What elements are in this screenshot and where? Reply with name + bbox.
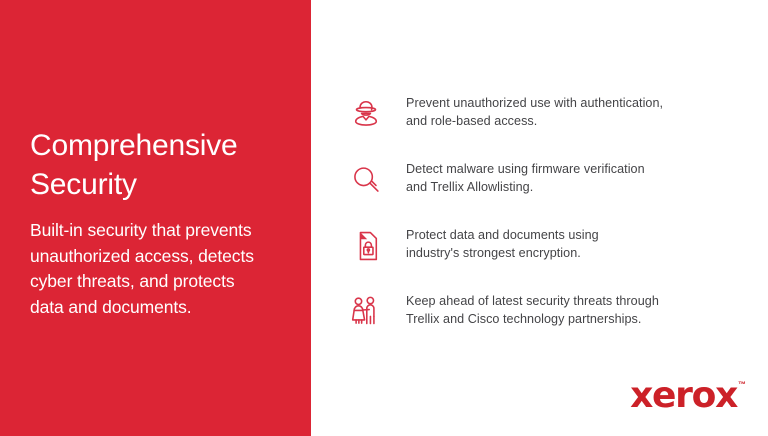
feature-item-partnerships: Keep ahead of latest security threats th… (345, 288, 745, 354)
feature-text: Protect data and documents using industr… (395, 222, 599, 263)
panel-text-block: Comprehensive Security Built-in security… (30, 126, 288, 320)
magnifying-glass-icon (345, 156, 395, 204)
feature-list: Prevent unauthorized use with authentica… (345, 90, 745, 354)
feature-text: Keep ahead of latest security threats th… (395, 288, 659, 329)
feature-text: Detect malware using firmware verificati… (395, 156, 645, 197)
page-title: Comprehensive Security (30, 126, 288, 204)
panel-subcopy: Built-in security that prevents unauthor… (30, 218, 288, 320)
xerox-wordmark: xerox (630, 378, 737, 414)
feature-item-malware-detection: Detect malware using firmware verificati… (345, 156, 745, 222)
feature-item-authentication: Prevent unauthorized use with authentica… (345, 90, 745, 156)
left-red-panel: Comprehensive Security Built-in security… (0, 0, 311, 436)
spy-hat-icon (345, 90, 395, 138)
xerox-logo: xerox ™ (630, 378, 746, 414)
slide-canvas: Comprehensive Security Built-in security… (0, 0, 768, 436)
feature-text: Prevent unauthorized use with authentica… (395, 90, 663, 131)
feature-item-encryption: Protect data and documents using industr… (345, 222, 745, 288)
two-people-handshake-icon (345, 288, 395, 336)
trademark-symbol: ™ (738, 381, 746, 389)
document-lock-icon (345, 222, 395, 270)
